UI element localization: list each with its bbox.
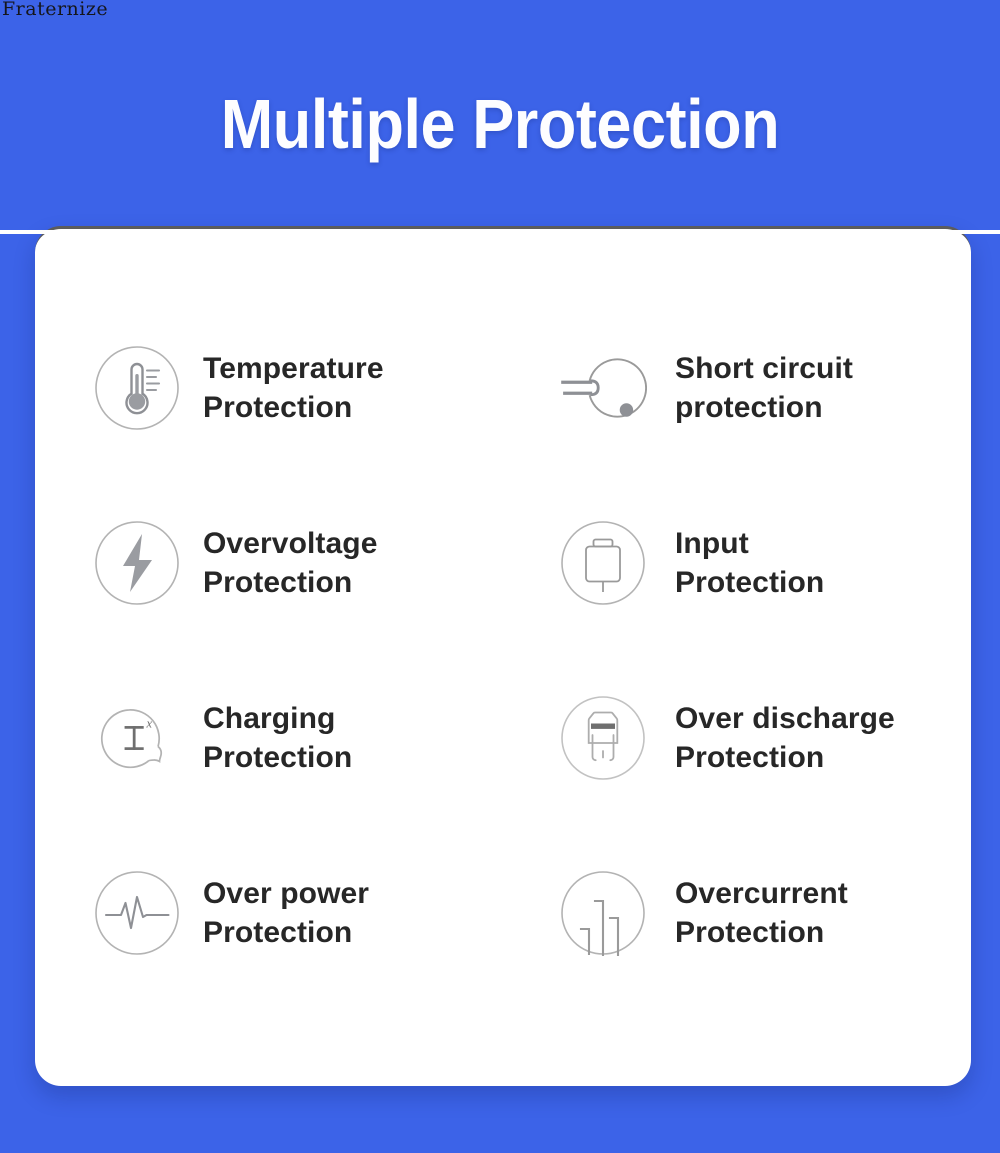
feature-over-discharge-protection: Over discharge Protection [503,650,971,825]
page-title: Multiple Protection [50,82,950,166]
feature-short-circuit-protection: Short circuit protection [503,300,971,475]
feature-label: Input Protection [675,524,824,602]
feature-overvoltage-protection: Overvoltage Protection [35,475,503,650]
image-seam-divider [0,230,1000,234]
feature-label: Short circuit protection [675,349,853,427]
feature-charging-protection: x Charging Protection [35,650,503,825]
watermark-text: Fraternize [2,0,108,20]
feature-label: Overcurrent Protection [675,874,848,952]
features-grid: Temperature Protection Short circuit pro… [35,300,971,1000]
feature-temperature-protection: Temperature Protection [35,300,503,475]
short-circuit-icon [559,344,647,432]
circuit-bars-icon [559,869,647,957]
feature-label: Temperature Protection [203,349,384,427]
thermometer-icon [93,344,181,432]
lightning-bolt-icon [93,519,181,607]
feature-input-protection: Input Protection [503,475,971,650]
feature-label: Over power Protection [203,874,369,952]
feature-over-power-protection: Over power Protection [35,825,503,1000]
promo-graphic: Multiple Protection T [0,0,1000,1153]
feature-overcurrent-protection: Overcurrent Protection [503,825,971,1000]
pulse-wave-icon [93,869,181,957]
feature-label: Overvoltage Protection [203,524,378,602]
current-symbol-icon: x [93,694,181,782]
battery-plug-icon [559,519,647,607]
feature-label: Over discharge Protection [675,699,895,777]
battery-discharge-icon [559,694,647,782]
svg-text:x: x [146,716,153,730]
feature-label: Charging Protection [203,699,352,777]
